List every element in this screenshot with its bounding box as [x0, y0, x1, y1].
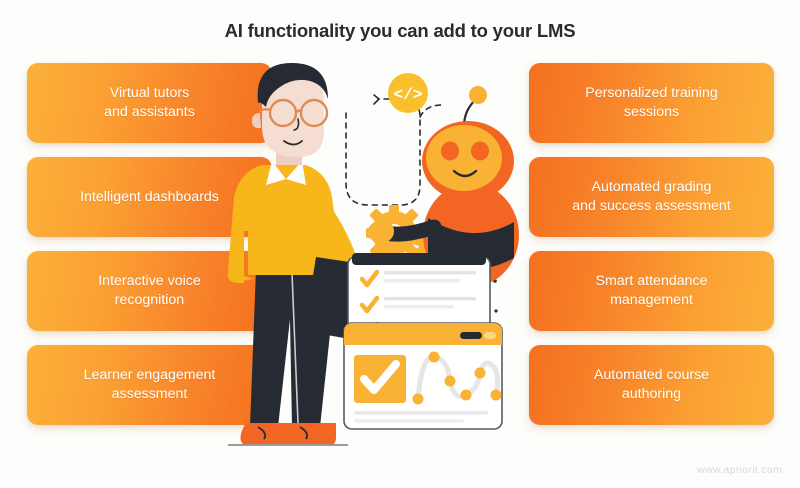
- infographic-page: AI functionality you can add to your LMS…: [0, 0, 800, 488]
- browser-control-dark: [460, 332, 482, 339]
- chart-point: [491, 390, 502, 401]
- checkmark-tile: [354, 355, 406, 403]
- code-glyph-label: </>: [394, 86, 423, 104]
- robot-head: [422, 121, 514, 201]
- card-label: Interactive voicerecognition: [98, 272, 201, 309]
- chart-point: [429, 352, 440, 363]
- page-title: AI functionality you can add to your LMS: [0, 20, 800, 42]
- site-watermark: www.apriorit.com: [697, 464, 782, 476]
- robot-eye-right: [471, 142, 489, 161]
- card-label: Intelligent dashboards: [80, 188, 219, 207]
- card-label: Automated courseauthoring: [594, 366, 709, 403]
- chart-point: [445, 376, 456, 387]
- card-label: Smart attendancemanagement: [596, 272, 708, 309]
- person-shoes: [240, 423, 336, 445]
- code-bubble-icon: </>: [388, 73, 428, 113]
- person-head: [252, 63, 328, 157]
- dashed-flow-arrow: [374, 95, 379, 104]
- card-label: Learner engagementassessment: [84, 366, 216, 403]
- chart-point: [413, 394, 424, 405]
- chart-point: [475, 368, 486, 379]
- card-label: Virtual tutorsand assistants: [104, 84, 195, 121]
- robot-eye-left: [441, 142, 459, 161]
- chart-point: [461, 390, 472, 401]
- browser-dashboard: [344, 323, 502, 429]
- browser-control-light: [484, 332, 496, 339]
- central-illustration: </>: [228, 55, 573, 465]
- card-label: Personalized trainingsessions: [585, 84, 718, 121]
- card-label: Automated gradingand success assessment: [572, 178, 731, 215]
- robot-antenna: [464, 86, 487, 127]
